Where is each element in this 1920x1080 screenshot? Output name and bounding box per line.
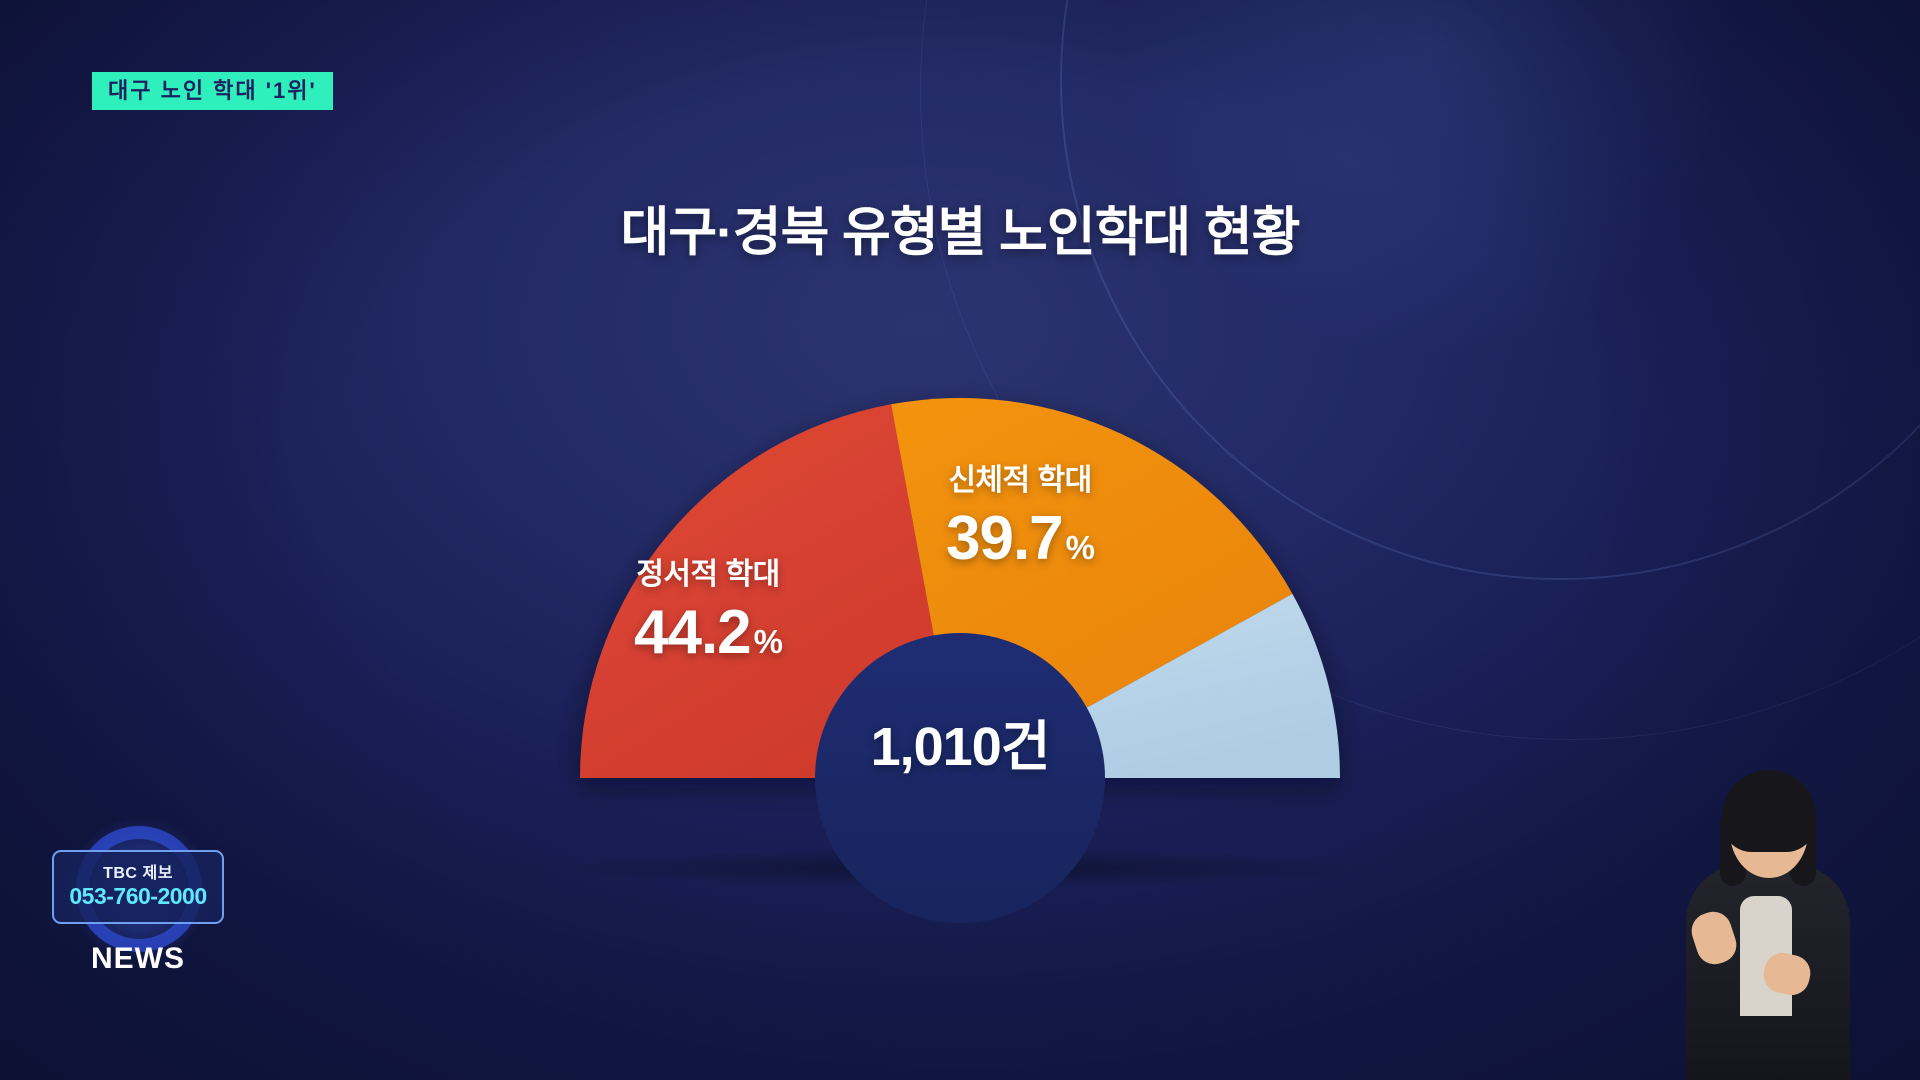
tbc-brand-line: TBC 제보 [103, 866, 173, 882]
semi-donut-svg [490, 408, 1430, 888]
tbc-tip-label: 제보 [142, 866, 172, 882]
headline-text: 대구 노인 학대 '1위' [108, 80, 317, 102]
tbc-logo-block: TBC 제보 053-760-2000 NEWS [48, 818, 228, 998]
tbc-tip-plate: TBC 제보 053-760-2000 [52, 850, 224, 924]
chart-center-total: 1,010건 [871, 702, 1050, 781]
news-wordmark: NEWS [48, 942, 228, 976]
headline-banner: 대구 노인 학대 '1위' [92, 72, 333, 110]
tbc-brand-text: TBC [103, 866, 137, 882]
page-title: 대구·경북 유형별 노인학대 현황 [0, 190, 1920, 266]
semi-donut-chart: 정서적 학대 44.2% 신체적 학대 39.7% 1,010건 [490, 408, 1430, 888]
interpreter-hair [1722, 770, 1816, 852]
sign-language-interpreter [1668, 744, 1868, 1080]
tbc-phone-number: 053-760-2000 [69, 885, 206, 908]
